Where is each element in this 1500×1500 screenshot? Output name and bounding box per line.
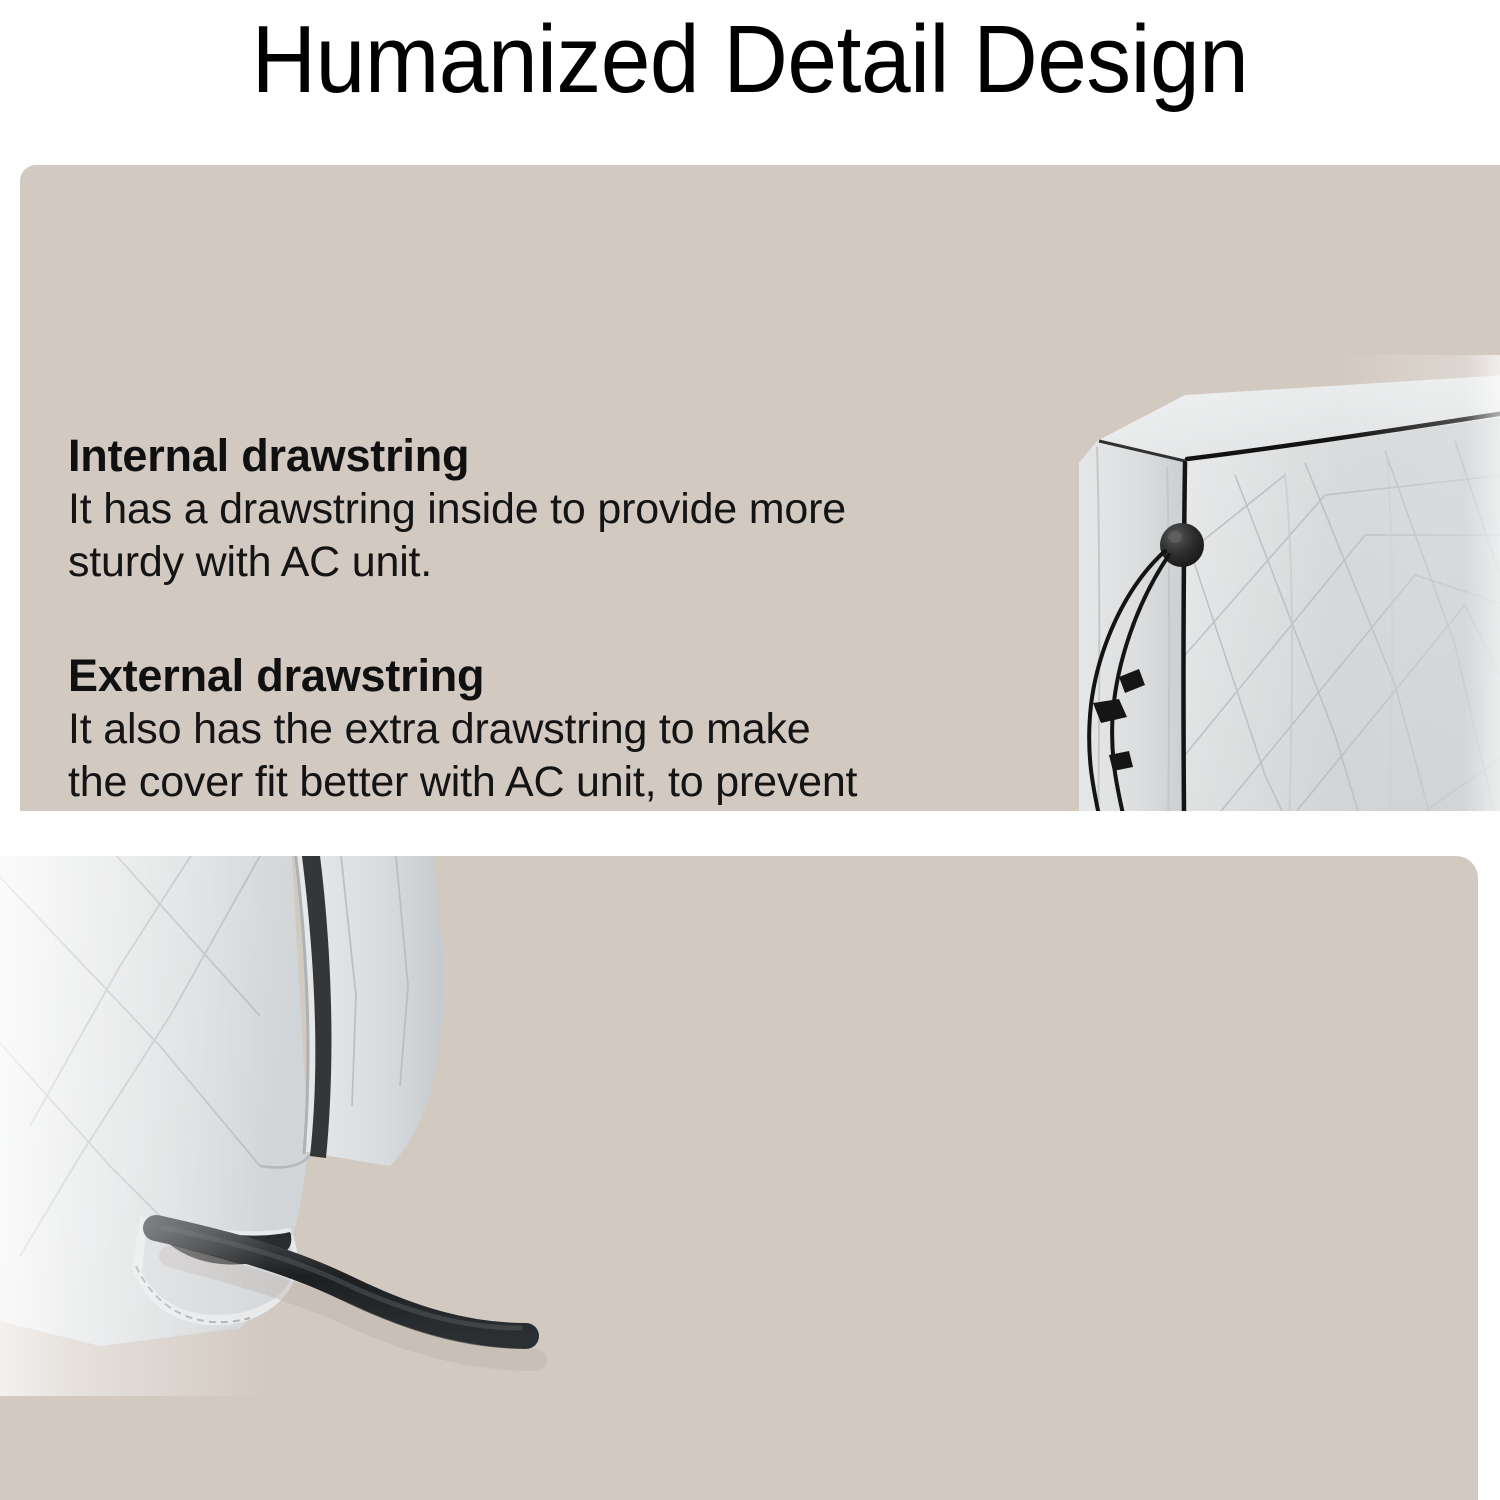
feature-external-drawstring: External drawstring It also has the extr… <box>68 651 968 811</box>
feature-heading: External drawstring <box>68 651 968 701</box>
feature-panel-top: Internal drawstring It has a drawstring … <box>20 165 1500 811</box>
cable-hole-closeup-image <box>0 856 580 1396</box>
feature-body: It has a drawstring inside to provide mo… <box>68 483 968 589</box>
body-line: the cover fall off from the AC unit. <box>68 809 968 811</box>
body-line: sturdy with AC unit. <box>68 536 968 589</box>
quilted-ac-cover-image <box>1035 355 1500 811</box>
body-line: It also has the extra drawstring to make <box>68 703 968 756</box>
infographic-canvas: Humanized Detail Design <box>0 0 1500 1500</box>
feature-internal-drawstring: Internal drawstring It has a drawstring … <box>68 431 968 589</box>
feature-panel-bottom: Two AC cable holes There are 2 holes on … <box>0 856 1478 1500</box>
feature-heading: Internal drawstring <box>68 431 968 481</box>
body-line: the cover fit better with AC unit, to pr… <box>68 756 968 809</box>
page-title: Humanized Detail Design <box>53 12 1448 108</box>
feature-body: It also has the extra drawstring to make… <box>68 703 968 811</box>
body-line: It has a drawstring inside to provide mo… <box>68 483 968 536</box>
